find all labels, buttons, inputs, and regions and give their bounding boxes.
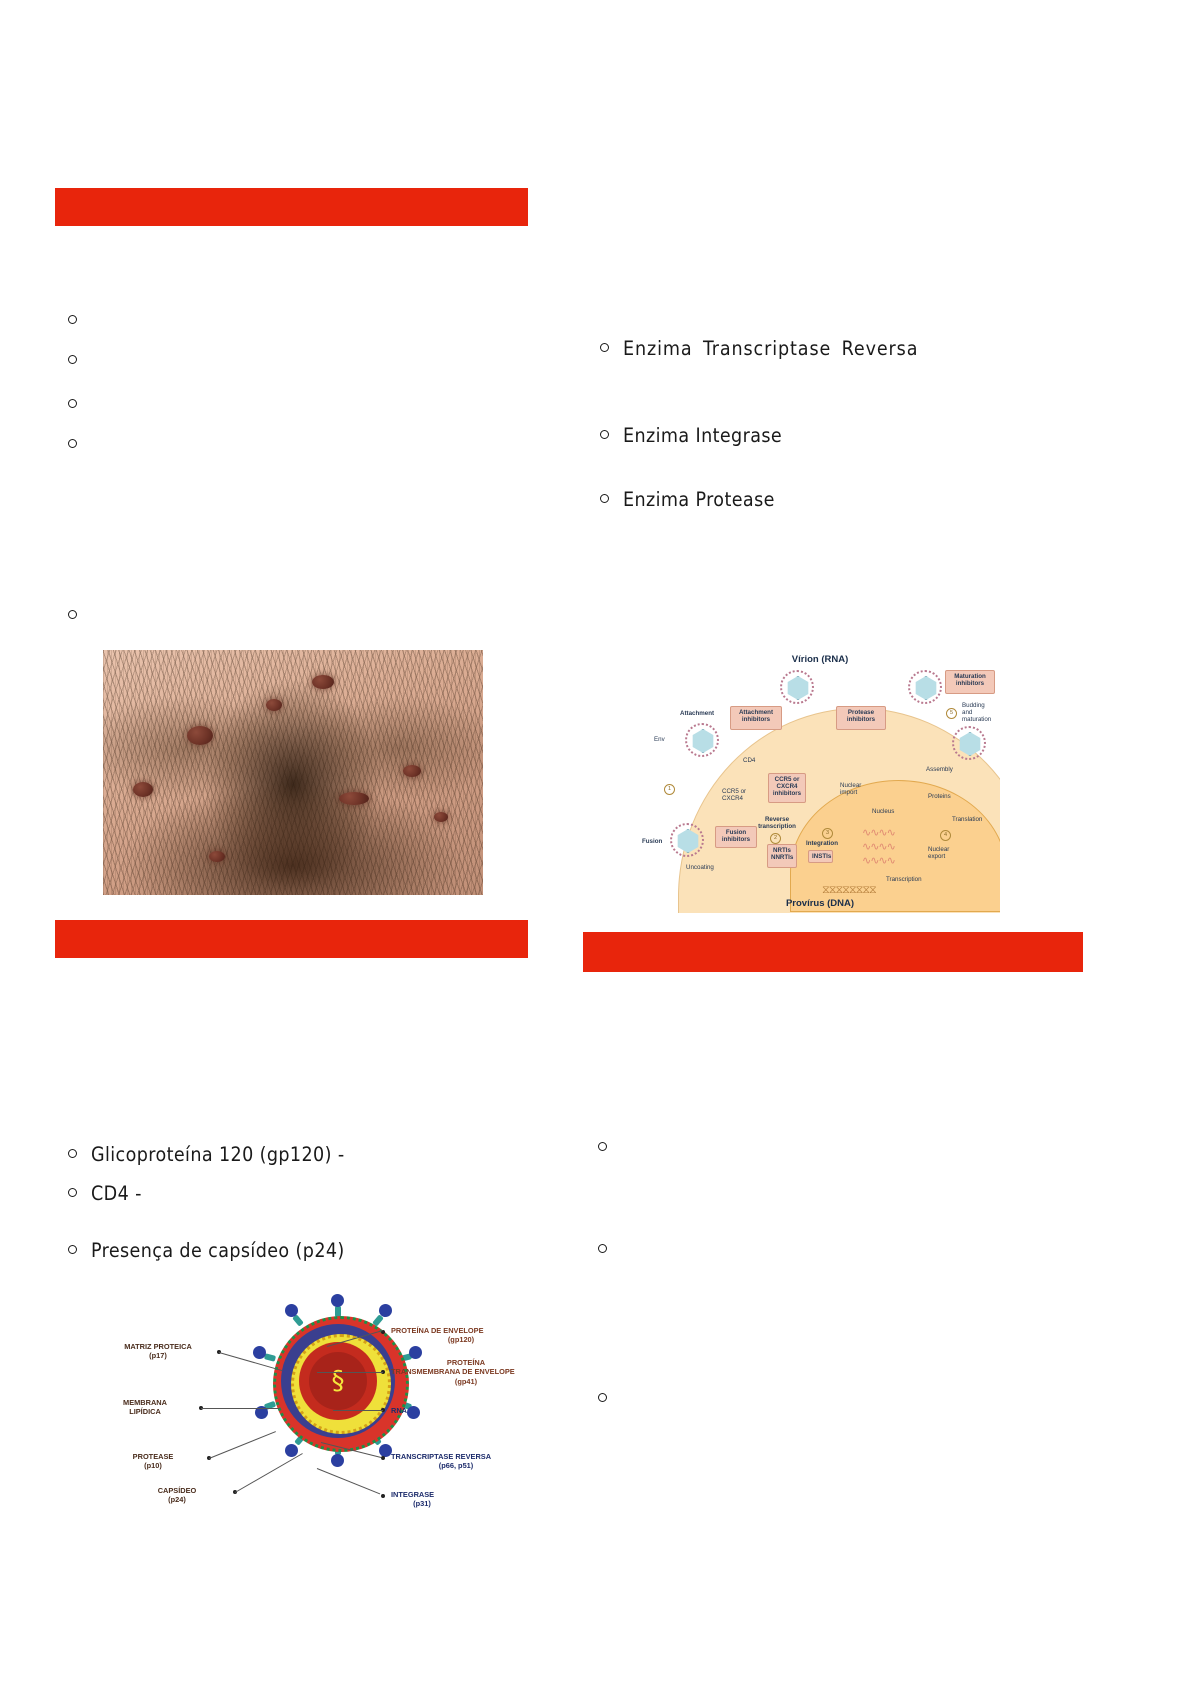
- label-nuclear-import: Nuclear import: [840, 782, 872, 796]
- rna-transcript-squiggle: ∿∿∿∿: [862, 826, 895, 839]
- leader-line-protease: [209, 1431, 276, 1459]
- section-bar-top-left: [55, 188, 528, 226]
- lifecycle-footer: Provírus (DNA): [640, 898, 1000, 909]
- rna-transcript-squiggle: ∿∿∿∿: [862, 854, 895, 867]
- hiv-virion-structure-diagram: § MATRIZ PROTEICA (p17) MEMBRANA LIPÍDIC…: [95, 1290, 535, 1540]
- label-proteina-transmembrana: PROTEÍNA TRANSMEMBRANA DE ENVELOPE (gp41…: [391, 1358, 551, 1386]
- leader-line-rna: [333, 1410, 383, 1411]
- left-bullet-4: [68, 442, 93, 451]
- bullet-marker-icon: [600, 343, 609, 352]
- label-matriz-proteica: MATRIZ PROTEICA (p17): [103, 1342, 213, 1361]
- label-nucleus: Nucleus: [872, 808, 894, 815]
- gp41-stem: [264, 1353, 276, 1362]
- label-integrase: INTEGRASE (p31): [391, 1490, 501, 1509]
- bullet-marker-icon: [68, 1149, 77, 1158]
- leader-dot: [381, 1494, 385, 1498]
- bullet-marker-icon: [598, 1142, 607, 1151]
- bullet-marker-icon: [600, 494, 609, 503]
- gp120-spike-head: [379, 1304, 392, 1317]
- leader-line-transmembrana: [317, 1372, 383, 1373]
- label-proteins: Proteins: [928, 793, 951, 800]
- label-protease-p10-line2: (p10): [144, 1461, 162, 1470]
- document-page: Enzima Transcriptase Reversa Enzima Inte…: [0, 0, 1191, 1684]
- rna-transcript-squiggle: ∿∿∿∿: [862, 840, 895, 853]
- right-bottom-bullet-1: [598, 1145, 623, 1154]
- left-bullet-1: [68, 318, 93, 327]
- gp120-spike-head: [285, 1304, 298, 1317]
- insti-inhibitors-box: INSTIs: [808, 850, 833, 863]
- label-proteina-envelope-line2: (gp120): [391, 1335, 531, 1344]
- label-assembly: Assembly: [926, 766, 953, 773]
- label-capsideo-p24-line1: CAPSÍDEO: [158, 1486, 197, 1495]
- label-membrana-lipidica-line1: MEMBRANA: [123, 1398, 167, 1407]
- skin-lesions-photograph: [103, 650, 483, 895]
- left-bullet-cd4: CD4 -: [68, 1182, 142, 1205]
- label-translation: Translation: [952, 816, 982, 823]
- leader-line-capsideo: [235, 1453, 303, 1493]
- right-bottom-bullet-3: [598, 1396, 623, 1405]
- skin-lesion: [434, 812, 448, 822]
- label-proteina-transmembrana-line3: (gp41): [391, 1377, 541, 1386]
- bullet-marker-icon: [598, 1393, 607, 1402]
- body-hair-texture: [103, 650, 483, 895]
- bullet-marker-icon: [68, 1245, 77, 1254]
- label-protease-p10-line1: PROTEASE: [133, 1452, 174, 1461]
- hiv-lifecycle-diagram: Vírion (RNA) Attachment inhibitors Prote…: [640, 648, 1000, 913]
- protease-inhibitors-box: Protease inhibitors: [836, 706, 886, 730]
- gp120-spike-head: [331, 1454, 344, 1467]
- bullet-marker-icon: [68, 355, 77, 364]
- left-bullet-2: [68, 358, 93, 367]
- section-bar-mid-left: [55, 920, 528, 958]
- bullet-marker-icon: [598, 1244, 607, 1253]
- right-bullet-integrase-label: Enzima Integrase: [623, 424, 782, 447]
- label-rna-line1: RNA: [391, 1406, 407, 1415]
- label-proteina-envelope-line1: PROTEÍNA DE ENVELOPE: [391, 1326, 484, 1335]
- step-3: 3: [822, 828, 833, 839]
- label-transcriptase-reversa-line2: (p66, p51): [391, 1461, 521, 1470]
- label-rna: RNA: [391, 1406, 471, 1415]
- right-bullet-integrase: Enzima Integrase: [600, 424, 782, 447]
- left-bullet-capsideo-p24-label: Presença de capsídeo (p24): [91, 1239, 345, 1262]
- lifecycle-title: Vírion (RNA): [640, 654, 1000, 665]
- leader-line-integrase: [317, 1468, 380, 1494]
- maturation-inhibitors-box: Maturation inhibitors: [945, 670, 995, 694]
- right-bullet-protease: Enzima Protease: [600, 488, 775, 511]
- label-nuclear-export: Nuclear export: [928, 846, 958, 860]
- gp120-spike-head: [285, 1444, 298, 1457]
- label-capsideo-p24: CAPSÍDEO (p24): [127, 1486, 227, 1505]
- virion-attachment: [685, 723, 719, 757]
- left-bullet-5: [68, 613, 93, 622]
- bullet-marker-icon: [600, 430, 609, 439]
- ccr5-cxcr4-inhibitors-box: CCR5 or CXCR4 inhibitors: [768, 773, 806, 803]
- left-bullet-capsideo-p24: Presença de capsídeo (p24): [68, 1239, 345, 1262]
- label-protease-p10: PROTEASE (p10): [103, 1452, 203, 1471]
- label-transcriptase-reversa: TRANSCRIPTASE REVERSA (p66, p51): [391, 1452, 541, 1471]
- label-fusion: Fusion: [642, 838, 662, 845]
- bullet-marker-icon: [68, 610, 77, 619]
- label-proteina-envelope: PROTEÍNA DE ENVELOPE (gp120): [391, 1326, 541, 1345]
- left-bullet-3: [68, 402, 93, 411]
- label-proteina-transmembrana-line2: TRANSMEMBRANA DE ENVELOPE: [391, 1367, 515, 1376]
- right-bullet-transcriptase-reversa-label: Enzima Transcriptase Reversa: [623, 337, 918, 360]
- label-ccr5-cxcr4: CCR5 or CXCR4: [722, 788, 764, 802]
- label-env: Env: [654, 736, 665, 743]
- label-transcriptase-reversa-line1: TRANSCRIPTASE REVERSA: [391, 1452, 491, 1461]
- leader-line-membrana: [201, 1408, 279, 1409]
- label-cd4: CD4: [743, 757, 755, 764]
- rna-strand-icon: §: [317, 1360, 359, 1402]
- skin-lesion: [339, 792, 369, 805]
- label-budding-and-maturation: Budding and maturation: [962, 702, 996, 723]
- skin-lesion: [312, 675, 334, 689]
- provirus-dna-strand: ⧖⧖⧖⧖⧖⧖⧖⧖: [822, 884, 876, 897]
- step-1: 1: [664, 784, 675, 795]
- label-membrana-lipidica: MEMBRANA LIPÍDICA: [95, 1398, 195, 1417]
- leader-dot: [381, 1456, 385, 1460]
- bullet-marker-icon: [68, 439, 77, 448]
- label-integrase-line1: INTEGRASE: [391, 1490, 434, 1499]
- gp120-spike-head: [331, 1294, 344, 1307]
- right-bullet-protease-label: Enzima Protease: [623, 488, 775, 511]
- label-integration: Integration: [806, 840, 838, 847]
- left-bullet-glicoproteina-120-label: Glicoproteína 120 (gp120) -: [91, 1143, 345, 1166]
- virion-fusion: [670, 823, 704, 857]
- bullet-marker-icon: [68, 1188, 77, 1197]
- label-proteina-transmembrana-line1: PROTEÍNA: [391, 1358, 541, 1367]
- fusion-inhibitors-box: Fusion inhibitors: [715, 826, 757, 848]
- label-matriz-proteica-line2: (p17): [149, 1351, 167, 1360]
- label-matriz-proteica-line1: MATRIZ PROTEICA: [124, 1342, 192, 1351]
- step-5: 5: [946, 708, 957, 719]
- label-attachment: Attachment: [680, 710, 714, 717]
- label-reverse-transcription: Reverse transcription: [756, 816, 798, 830]
- label-integrase-line2: (p31): [391, 1499, 453, 1508]
- label-uncoating: Uncoating: [686, 864, 714, 871]
- attachment-inhibitors-box: Attachment inhibitors: [730, 706, 782, 730]
- nrti-nnrti-inhibitors-box: NRTIs NNRTIs: [767, 844, 797, 868]
- step-4: 4: [940, 830, 951, 841]
- bullet-marker-icon: [68, 315, 77, 324]
- virion-rna-top-left: [780, 670, 814, 704]
- right-bottom-bullet-2: [598, 1247, 623, 1256]
- left-bullet-cd4-label: CD4 -: [91, 1182, 142, 1205]
- gp120-spike-head: [253, 1346, 266, 1359]
- skin-lesion: [187, 726, 213, 745]
- label-transcription: Transcription: [886, 876, 922, 883]
- label-capsideo-p24-line2: (p24): [168, 1495, 186, 1504]
- section-bar-mid-right: [583, 932, 1083, 972]
- right-bullet-transcriptase-reversa: Enzima Transcriptase Reversa: [600, 337, 918, 360]
- bullet-marker-icon: [68, 399, 77, 408]
- step-2: 2: [770, 833, 781, 844]
- label-membrana-lipidica-line2: LIPÍDICA: [129, 1407, 161, 1416]
- virion-budding: [952, 726, 986, 760]
- virion-mature-top-right: [908, 670, 942, 704]
- left-bullet-glicoproteina-120: Glicoproteína 120 (gp120) -: [68, 1143, 345, 1166]
